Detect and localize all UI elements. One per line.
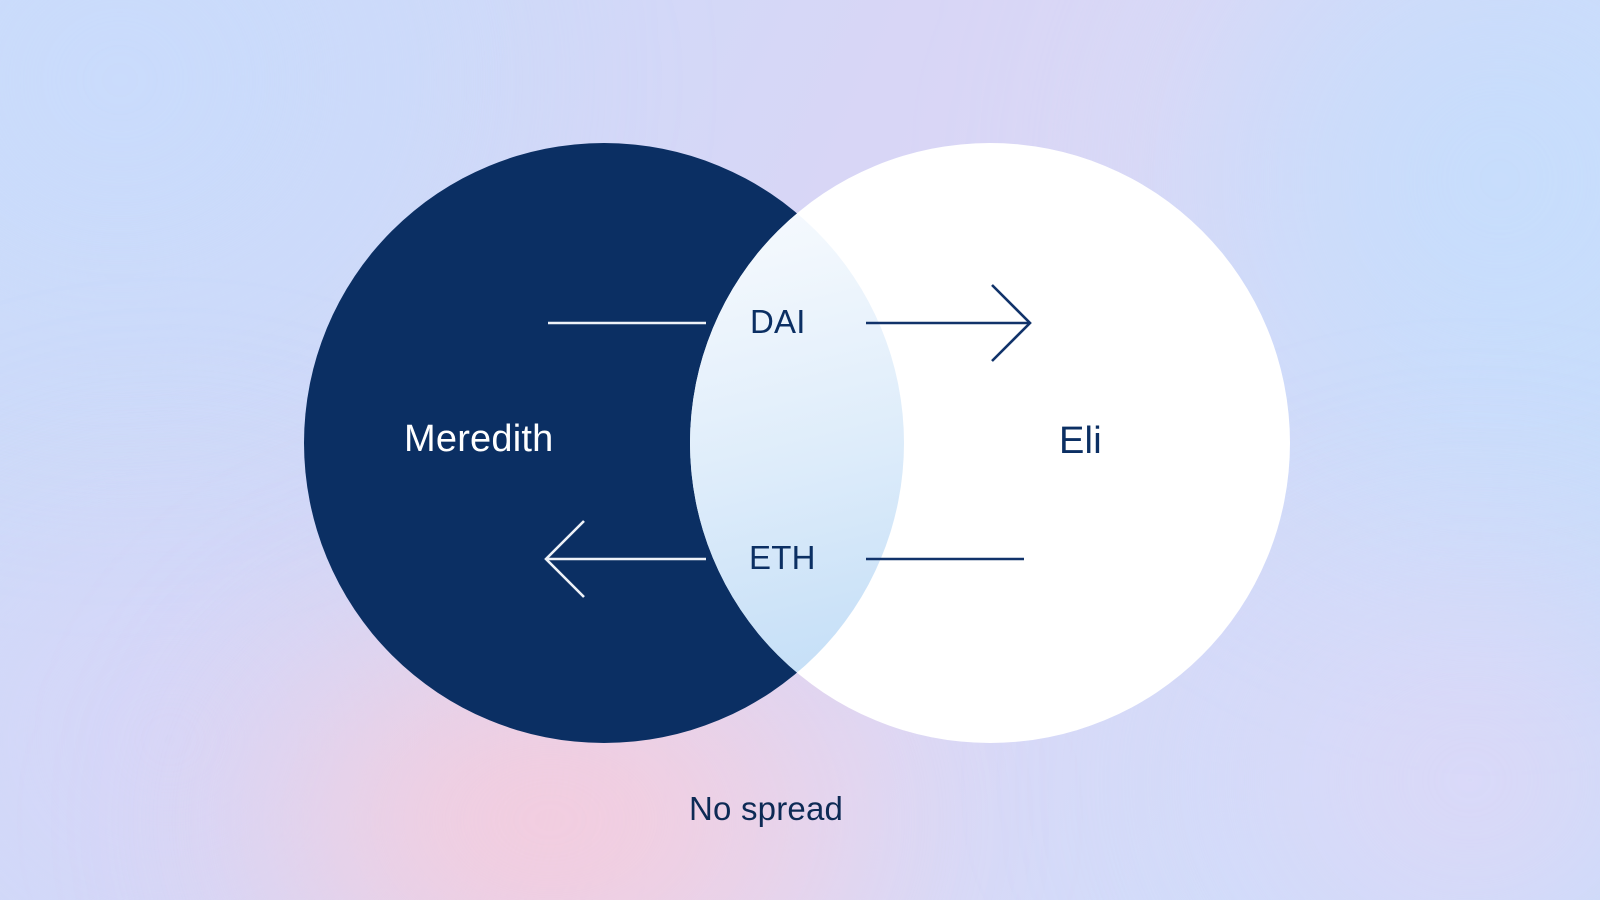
eli-label: Eli	[1059, 420, 1102, 463]
no-spread-caption: No spread	[689, 790, 843, 828]
eth-flow-label: ETH	[749, 539, 816, 577]
diagram-canvas: Meredith Eli DAI ETH No spread	[0, 0, 1600, 900]
meredith-label: Meredith	[404, 418, 553, 461]
venn-diagram	[0, 0, 1600, 900]
dai-flow-label: DAI	[750, 303, 806, 341]
